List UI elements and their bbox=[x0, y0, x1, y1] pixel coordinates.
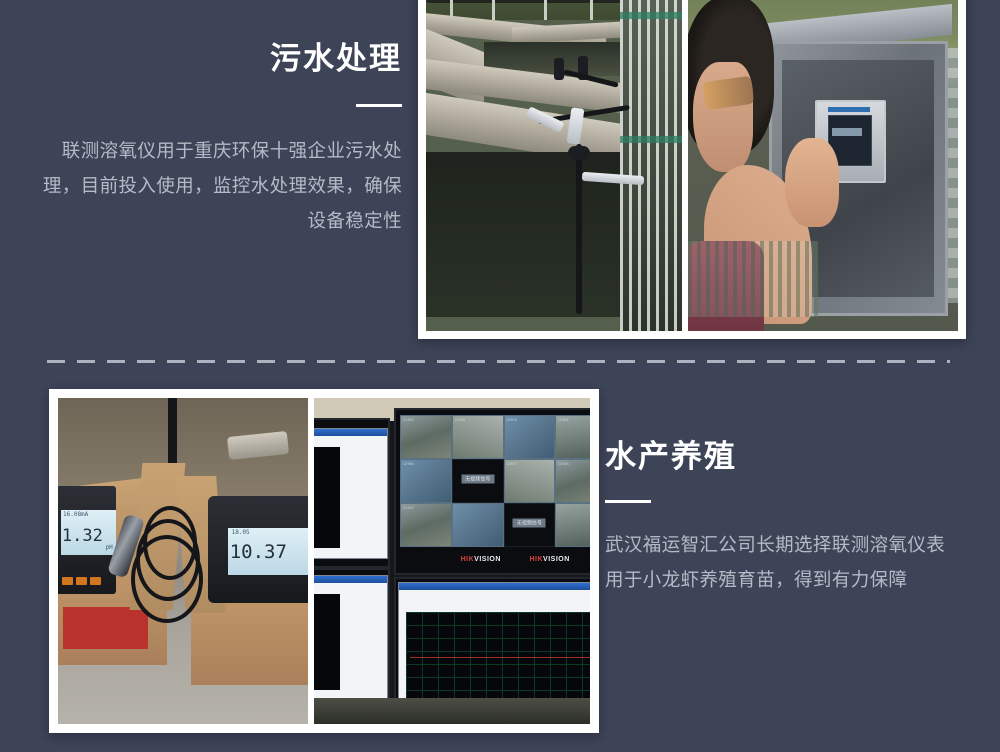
cctv-tile[interactable]: CH01 bbox=[400, 415, 452, 459]
no-signal-badge: 无视频信号 bbox=[461, 475, 494, 484]
section-sewage-text: 污水处理 联测溶氧仪用于重庆环保十强企业污水处理，目前投入使用，监控水处理效果，… bbox=[40, 42, 402, 238]
photo-group-sewage bbox=[418, 0, 966, 339]
device-brand-strip bbox=[828, 107, 870, 113]
page-title: 污水处理 bbox=[40, 42, 402, 76]
cctv-tile[interactable]: CH03 bbox=[504, 415, 556, 459]
do-meter-device: 18.05 10.37 bbox=[208, 496, 308, 604]
section-aquaculture-text: 水产养殖 武汉福运智汇公司长期选择联测溶氧仪表用于小龙虾养殖育苗，得到有力保障 bbox=[605, 440, 955, 597]
no-signal-badge: 无视频信号 bbox=[513, 519, 546, 528]
hikvision-logo: HIKVISION bbox=[461, 556, 501, 563]
photo-group-aquaculture: 16.08mA 1.32 pH 18.05 10.37 bbox=[49, 389, 599, 733]
rail-post-icon bbox=[590, 0, 593, 20]
brand-suffix: VISION bbox=[474, 556, 501, 563]
ph-meter-display: 16.08mA 1.32 pH bbox=[61, 510, 116, 555]
do-meter-subvalue: 18.05 bbox=[232, 529, 250, 536]
cctv-tile-label: CH04 bbox=[558, 417, 568, 422]
trend-software-window bbox=[398, 582, 590, 715]
cctv-tile[interactable] bbox=[452, 503, 504, 547]
title-rule bbox=[356, 104, 402, 107]
do-meter-value: 10.37 bbox=[230, 541, 287, 563]
monitor-left-top bbox=[314, 418, 390, 569]
window-titlebar bbox=[399, 583, 590, 590]
photo-sewage-treatment-tanks bbox=[426, 0, 682, 331]
chart-panel bbox=[314, 447, 340, 548]
do-meter-display: 18.05 10.37 bbox=[228, 528, 308, 575]
section-description: 武汉福运智汇公司长期选择联测溶氧仪表用于小龙虾养殖育苗，得到有力保障 bbox=[605, 527, 955, 597]
probe-float bbox=[568, 146, 590, 160]
probe-cable bbox=[576, 144, 582, 314]
ph-meter-subvalue: 16.08mA bbox=[63, 511, 88, 518]
ph-meter-buttons[interactable] bbox=[62, 577, 101, 585]
monitor-cctv-wall: CH01 CH02 CH03 CH04 CH06 无视频信号 CH07 CH08… bbox=[394, 408, 590, 575]
cctv-tile-label: CH10 bbox=[403, 505, 413, 510]
ph-meter-value: 1.32 bbox=[62, 526, 103, 546]
page-title: 水产养殖 bbox=[605, 440, 955, 474]
chart-panel bbox=[314, 594, 340, 690]
ph-meter-device: 16.08mA 1.32 pH bbox=[58, 486, 116, 594]
cctv-tile[interactable] bbox=[555, 503, 590, 547]
section-divider bbox=[47, 360, 950, 363]
window-titlebar bbox=[314, 429, 387, 436]
cctv-tile-no-signal[interactable]: 无视频信号 bbox=[452, 459, 504, 503]
trend-chart-plot bbox=[406, 612, 591, 699]
window-titlebar bbox=[314, 576, 387, 583]
green-rail bbox=[620, 136, 682, 143]
brand-suffix: VISION bbox=[543, 556, 570, 563]
photo-dissolved-oxygen-meters-on-site: 16.08mA 1.32 pH 18.05 10.37 bbox=[58, 398, 308, 724]
cctv-tile-label: CH07 bbox=[507, 461, 517, 466]
green-rail bbox=[620, 12, 682, 19]
brand-prefix: HIK bbox=[529, 556, 543, 563]
cctv-tile[interactable]: CH08 bbox=[555, 459, 590, 503]
rail-post-icon bbox=[544, 0, 547, 20]
cctv-tile-label: CH08 bbox=[558, 461, 568, 466]
metal-fence bbox=[620, 0, 682, 331]
box-red-label bbox=[63, 607, 148, 649]
cctv-tile-label: CH02 bbox=[455, 417, 465, 422]
sensor-head-icon bbox=[554, 58, 564, 80]
software-window bbox=[314, 575, 388, 706]
ph-meter-unit: pH bbox=[105, 544, 112, 551]
cctv-tile[interactable]: CH06 bbox=[400, 459, 452, 503]
hikvision-logo: HIKVISION bbox=[529, 556, 569, 563]
rail-post-icon bbox=[492, 0, 495, 20]
title-rule bbox=[605, 500, 651, 503]
monitor-left-bottom bbox=[314, 568, 390, 715]
trend-series-line bbox=[410, 657, 591, 658]
cctv-tile-label: CH03 bbox=[507, 417, 517, 422]
cctv-tile[interactable]: CH04 bbox=[555, 415, 590, 459]
section-description: 联测溶氧仪用于重庆环保十强企业污水处理，目前投入使用，监控水处理效果，确保设备稳… bbox=[40, 133, 402, 238]
person-hand bbox=[785, 138, 839, 228]
brand-prefix: HIK bbox=[461, 556, 475, 563]
cctv-tile[interactable]: CH02 bbox=[452, 415, 504, 459]
cctv-tile-no-signal[interactable]: 无视频信号 bbox=[504, 503, 556, 547]
software-window bbox=[314, 428, 388, 559]
desk-surface bbox=[314, 698, 590, 724]
photo-monitoring-control-room-screens: CH01 CH02 CH03 CH04 CH06 无视频信号 CH07 CH08… bbox=[314, 398, 590, 724]
promo-page: 污水处理 联测溶氧仪用于重庆环保十强企业污水处理，目前投入使用，监控水处理效果，… bbox=[0, 0, 1000, 752]
cctv-tile[interactable]: CH07 bbox=[504, 459, 556, 503]
cctv-tile-label: CH01 bbox=[403, 417, 413, 422]
sensor-cable bbox=[131, 535, 203, 623]
cctv-tile-label: CH06 bbox=[403, 461, 413, 466]
site-fence bbox=[688, 241, 818, 317]
photo-technician-at-control-cabinet bbox=[688, 0, 958, 331]
cctv-tile[interactable]: CH10 bbox=[400, 503, 452, 547]
